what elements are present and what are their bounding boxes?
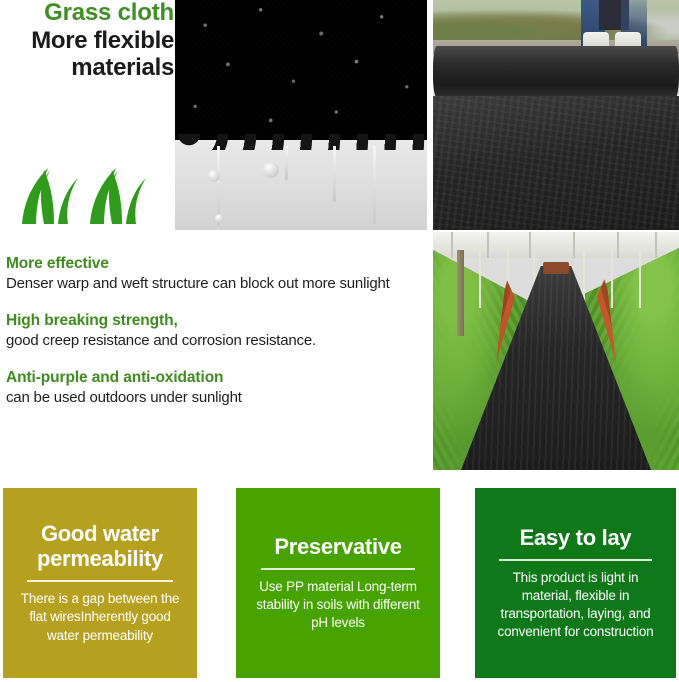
card-divider [261, 568, 416, 570]
card-body: Use PP material Long-term stability in s… [250, 578, 426, 633]
fabric-sheet [433, 96, 679, 230]
headline-line-1: More flexible [0, 27, 178, 54]
headline-line-2: materials [0, 54, 178, 81]
feature-heading: Anti-purple and anti-oxidation [6, 368, 430, 388]
feature-item-anti-oxidation: Anti-purple and anti-oxidation can be us… [6, 368, 430, 408]
card-body: There is a gap between the flat wiresInh… [17, 590, 183, 645]
water-bead [215, 214, 224, 223]
fabric-edge-scallop [175, 134, 427, 150]
worker-unrolling-fabric-photo [433, 0, 679, 230]
card-title: Good water permeability [17, 521, 183, 571]
feature-heading: High breaking strength, [6, 311, 430, 331]
water-drip [285, 146, 288, 180]
brand-title: Grass cloth [0, 0, 178, 27]
infographic-canvas: Grass cloth More flexible materials More… [0, 0, 679, 682]
fabric-macro-water-drip-photo [175, 0, 427, 230]
wet-surface-region [175, 140, 427, 230]
benefit-card-preservative[interactable]: Preservative Use PP material Long-term s… [236, 488, 440, 678]
far-pots [543, 262, 569, 274]
header-title-block: Grass cloth More flexible materials [0, 0, 178, 82]
greenhouse-roof [433, 232, 679, 258]
fabric-texture-region [175, 0, 427, 140]
feature-item-more-effective: More effective Denser warp and weft stru… [6, 254, 430, 294]
card-body: This product is light in material, flexi… [489, 569, 662, 642]
card-divider [499, 559, 651, 561]
feature-item-breaking-strength: High breaking strength, good creep resis… [6, 311, 430, 351]
support-post [457, 250, 464, 336]
water-drip [373, 146, 376, 224]
greenhouse-aisle-fabric-photo [433, 232, 679, 470]
card-title: Easy to lay [520, 525, 632, 550]
feature-body: can be used outdoors under sunlight [6, 388, 430, 408]
water-bead [208, 170, 220, 182]
card-divider [27, 580, 173, 582]
feature-body: Denser warp and weft structure can block… [6, 274, 430, 294]
benefit-card-water-permeability[interactable]: Good water permeability There is a gap b… [3, 488, 197, 678]
benefit-card-easy-to-lay[interactable]: Easy to lay This product is light in mat… [475, 488, 676, 678]
water-drip [333, 146, 336, 202]
feature-body: good creep resistance and corrosion resi… [6, 331, 430, 351]
feature-heading: More effective [6, 254, 430, 274]
card-title: Preservative [274, 534, 401, 559]
water-bead [263, 162, 279, 178]
grass-tuft-icon [14, 160, 154, 226]
fabric-roll [433, 46, 679, 98]
feature-list: More effective Denser warp and weft stru… [6, 254, 430, 425]
